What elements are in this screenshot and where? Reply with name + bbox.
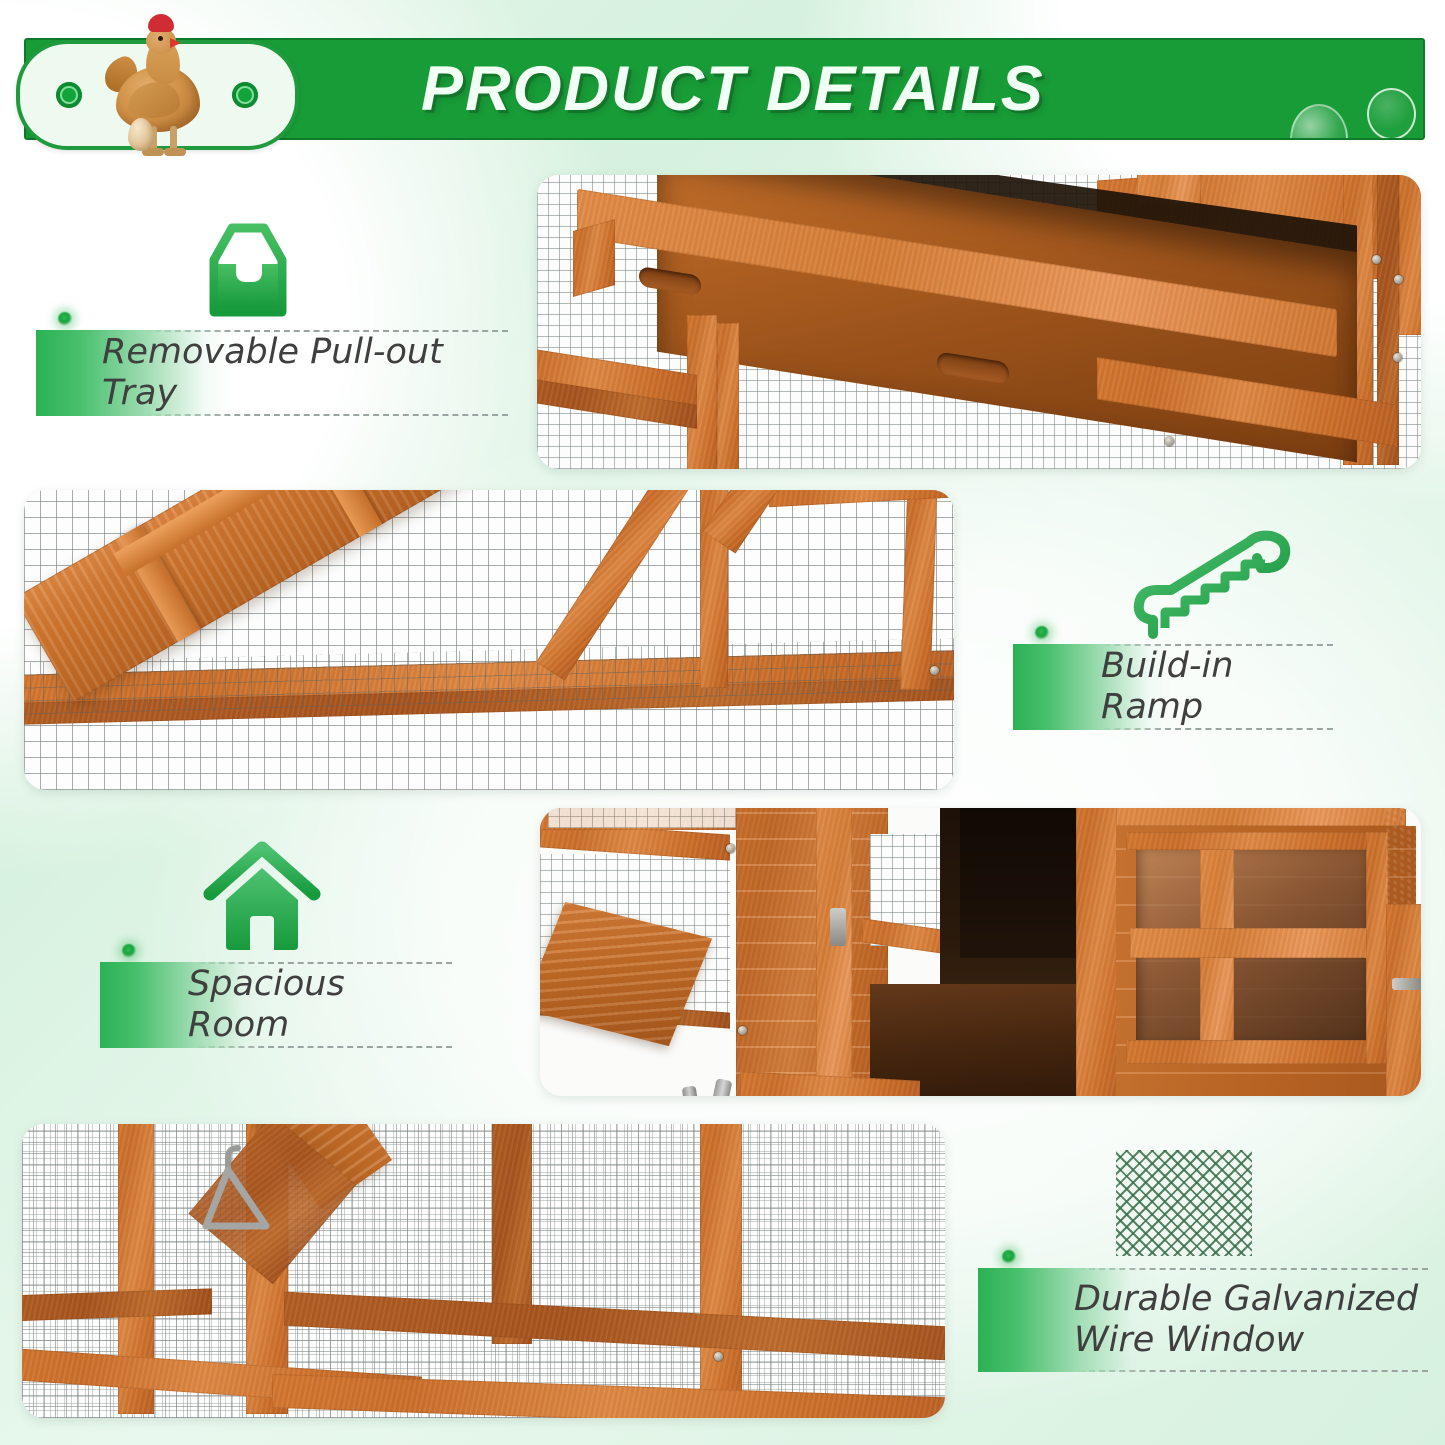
coop-corner-post bbox=[1076, 808, 1120, 1096]
bubble-decoration-small bbox=[1367, 88, 1416, 140]
interior-deep-shadow bbox=[960, 808, 1090, 958]
tray-icon bbox=[186, 216, 310, 320]
badge-hole-right bbox=[232, 82, 258, 108]
ramp-escalator-icon bbox=[1131, 528, 1307, 644]
badge-hole-left bbox=[56, 82, 82, 108]
photo-content-tray bbox=[537, 175, 1421, 469]
feature-build-in-ramp: Build-in Ramp bbox=[985, 520, 1435, 750]
photo-content-room bbox=[540, 808, 1421, 1096]
screw-1 bbox=[1372, 255, 1381, 264]
window-frame-bottom bbox=[1126, 1040, 1386, 1064]
feature-label-text: Spacious Room bbox=[188, 964, 452, 1047]
screw-run-1 bbox=[714, 1352, 723, 1361]
label-row-tray: Removable Pull-out Tray bbox=[36, 330, 508, 416]
window-frame-right bbox=[1366, 832, 1388, 1064]
chicken-comb bbox=[148, 14, 174, 32]
photo-wire-run bbox=[22, 1124, 945, 1418]
label-row-wire: Durable Galvanized Wire Window bbox=[978, 1268, 1428, 1372]
chicken-icon bbox=[102, 14, 224, 174]
label-dot bbox=[1035, 626, 1049, 640]
photo-content-run bbox=[22, 1124, 945, 1418]
product-details-page: PRODUCT DETAILS bbox=[0, 0, 1445, 1445]
door-stile bbox=[816, 808, 852, 1096]
label-row-ramp: Build-in Ramp bbox=[1013, 644, 1333, 730]
screw-2 bbox=[1394, 275, 1403, 284]
photo-pull-out-tray bbox=[537, 175, 1421, 469]
window-frame-top bbox=[1126, 832, 1386, 850]
hanging-hook-icon bbox=[198, 1140, 278, 1250]
feature-label-text: Build-in Ramp bbox=[1101, 646, 1333, 729]
photo-content-ramp bbox=[24, 490, 954, 790]
frame-post-mid-edge bbox=[717, 323, 739, 469]
chicken-beak bbox=[170, 38, 181, 48]
latch-hardware[interactable] bbox=[1392, 978, 1421, 990]
feature-durable-galvanized-wire-window: Durable Galvanized Wire Window bbox=[960, 1140, 1430, 1430]
label-row-spacious: Spacious Room bbox=[100, 962, 452, 1048]
label-dot bbox=[58, 312, 72, 326]
right-wall-top-rail bbox=[1116, 808, 1406, 826]
feature-label-text: Durable Galvanized Wire Window bbox=[1074, 1279, 1418, 1362]
screw-3 bbox=[1393, 353, 1402, 362]
house-icon bbox=[200, 838, 324, 958]
run-post-4 bbox=[700, 1124, 742, 1418]
label-dot bbox=[122, 944, 136, 958]
screw-4 bbox=[1165, 437, 1174, 446]
photo-built-in-ramp bbox=[24, 490, 954, 790]
label-dot bbox=[1002, 1250, 1016, 1264]
screw-room-2 bbox=[738, 1026, 747, 1035]
chicken-eye bbox=[158, 36, 163, 41]
screw-room-1 bbox=[726, 844, 735, 853]
page-title: PRODUCT DETAILS bbox=[421, 53, 1045, 125]
feature-spacious-room: Spacious Room bbox=[88, 838, 528, 1068]
feature-removable-pull-out-tray: Removable Pull-out Tray bbox=[0, 210, 520, 430]
right-edge-post bbox=[1386, 904, 1421, 1096]
door-siding-lines bbox=[736, 808, 888, 1096]
screw-ramp-1 bbox=[930, 666, 939, 675]
bubble-decoration-large bbox=[1290, 104, 1348, 140]
wire-mesh-icon bbox=[1116, 1150, 1252, 1256]
photo-spacious-room bbox=[540, 808, 1421, 1096]
window-mullion-horizontal bbox=[1130, 928, 1380, 958]
roof-mesh-strip bbox=[548, 808, 738, 828]
feature-label-text: Removable Pull-out Tray bbox=[102, 332, 508, 415]
egg-icon bbox=[128, 118, 154, 151]
door-hinge[interactable] bbox=[830, 908, 846, 946]
chicken-badge bbox=[16, 40, 299, 150]
coop-side-panel bbox=[1399, 175, 1421, 335]
tray-side-rail bbox=[573, 219, 615, 297]
chicken-foot-right bbox=[164, 148, 186, 156]
